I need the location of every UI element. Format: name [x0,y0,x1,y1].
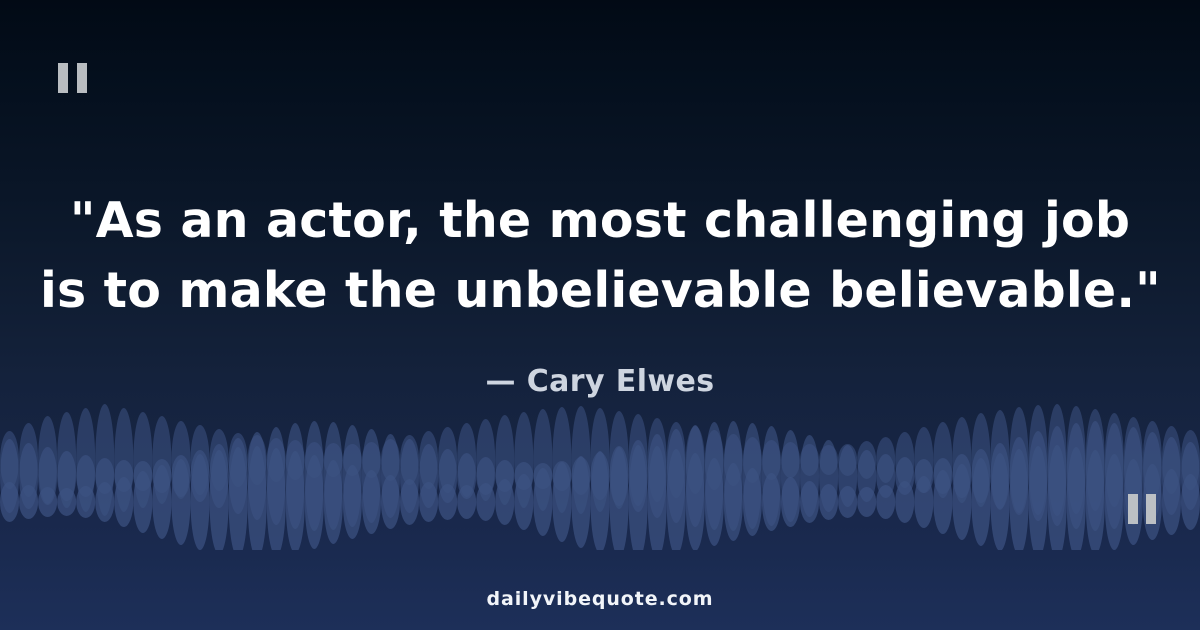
quote-card: "As an actor, the most challenging job i… [0,0,1200,630]
site-watermark: dailyvibequote.com [0,588,1200,610]
waveform-row-front [0,445,1200,550]
audio-waveform-icon [0,398,1200,550]
quote-line-1: "As an actor, the most challenging job [40,186,1160,256]
quote-bar-right [1146,494,1156,524]
quote-bar-left [1128,494,1138,524]
quote-text: "As an actor, the most challenging job i… [0,186,1200,326]
quote-line-2: is to make the unbelievable believable." [40,256,1160,326]
quote-bar-left [58,63,68,93]
quote-mark-icon-bottom [1128,494,1156,524]
audio-waveform [0,398,1200,550]
quote-mark-icon-top [58,63,87,93]
quote-attribution: — Cary Elwes [0,364,1200,399]
quote-bar-right [77,63,87,93]
